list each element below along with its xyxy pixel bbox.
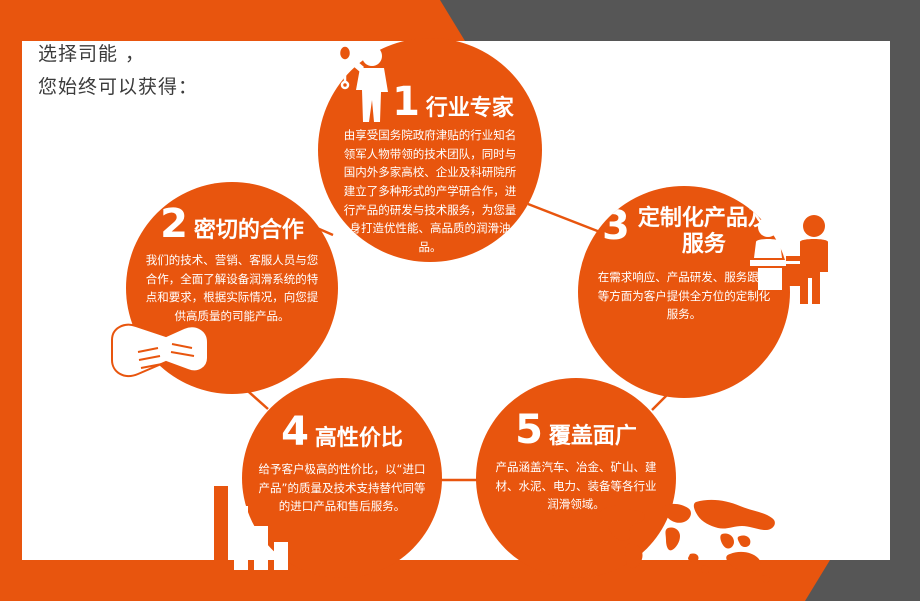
node-2-body: 我们的技术、营销、客服人员与您合作，全面了解设备润滑系统的特点和要求，根据实际情… <box>143 251 321 326</box>
benefit-node-4[interactable]: 4 高性价比 给予客户极高的性价比，以“进口产品”的质量及技术支持替代同等的进口… <box>242 378 442 578</box>
node-1-number: 1 <box>392 82 420 122</box>
node-1-body: 由享受国务院政府津贴的行业知名领军人物带领的技术团队，同时与国内外多家高校、企业… <box>339 126 521 256</box>
node-5-heading: 5 覆盖面广 <box>515 410 637 450</box>
title-line-1: 选择司能 ， <box>38 38 358 71</box>
node-1-title: 行业专家 <box>426 96 514 122</box>
benefit-node-5[interactable]: 5 覆盖面广 产品涵盖汽车、冶金、矿山、建材、水泥、电力、装备等各行业润滑领域。 <box>476 378 676 578</box>
node-4-heading: 4 高性价比 <box>281 412 403 452</box>
node-3-body: 在需求响应、产品研发、服务跟进等方面为客户提供全方位的定制化服务。 <box>596 268 772 324</box>
node-3-heading: 3 定制化产品及服务 <box>602 206 772 258</box>
benefit-node-3[interactable]: 3 定制化产品及服务 在需求响应、产品研发、服务跟进等方面为客户提供全方位的定制… <box>578 186 790 398</box>
node-1-heading: 1 行业专家 <box>392 82 514 122</box>
node-3-title: 定制化产品及服务 <box>636 206 772 258</box>
page-title: 选择司能 ， 您始终可以获得： <box>38 38 358 103</box>
node-2-number: 2 <box>160 204 188 244</box>
node-2-heading: 2 密切的合作 <box>160 204 304 244</box>
node-4-number: 4 <box>281 412 309 452</box>
node-4-title: 高性价比 <box>315 426 403 452</box>
node-5-title: 覆盖面广 <box>549 424 637 450</box>
benefit-node-2[interactable]: 2 密切的合作 我们的技术、营销、客服人员与您合作，全面了解设备润滑系统的特点和… <box>126 182 338 394</box>
node-5-body: 产品涵盖汽车、冶金、矿山、建材、水泥、电力、装备等各行业润滑领域。 <box>490 458 662 514</box>
node-2-title: 密切的合作 <box>194 218 304 244</box>
node-3-number: 3 <box>602 206 630 246</box>
node-4-body: 给予客户极高的性价比，以“进口产品”的质量及技术支持替代同等的进口产品和售后服务… <box>257 460 427 516</box>
node-5-number: 5 <box>515 410 543 450</box>
title-line-2: 您始终可以获得： <box>38 71 358 104</box>
slide-canvas: 选择司能 ， 您始终可以获得： 1 行业专家 由享受国务院政府津贴的行业知名领军… <box>0 0 920 601</box>
